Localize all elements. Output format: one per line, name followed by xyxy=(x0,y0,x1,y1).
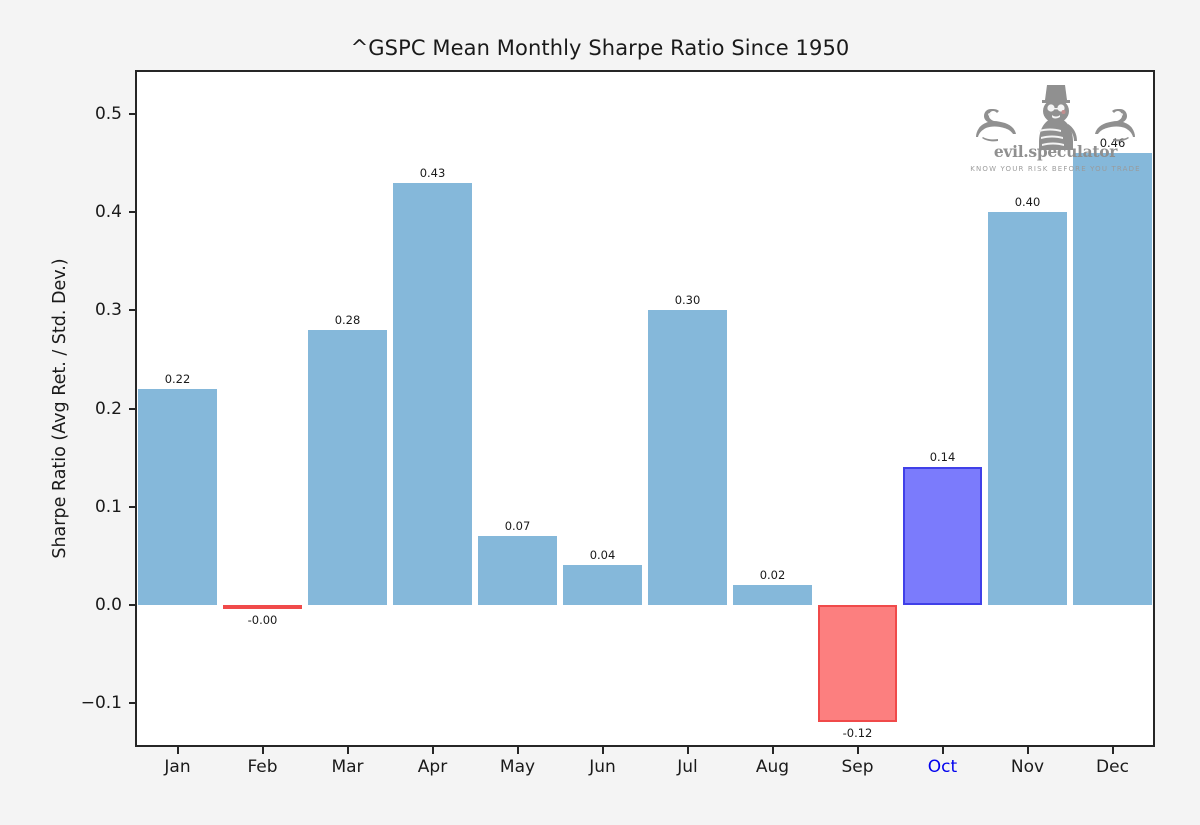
y-tick-mark xyxy=(129,604,136,606)
bar-value-label-apr: 0.43 xyxy=(373,166,493,180)
bar-value-label-aug: 0.02 xyxy=(713,568,833,582)
bar-value-label-mar: 0.28 xyxy=(288,313,408,327)
bar-value-label-jan: 0.22 xyxy=(118,372,238,386)
y-tick-label: 0.4 xyxy=(60,202,122,222)
bar-jan xyxy=(138,389,216,605)
y-tick-label: 0.1 xyxy=(60,497,122,517)
x-tick-mark xyxy=(772,747,774,754)
y-tick-label: 0.3 xyxy=(60,300,122,320)
bar-value-label-dec: 0.46 xyxy=(1053,136,1173,150)
y-tick-mark xyxy=(129,408,136,410)
x-tick-mark xyxy=(602,747,604,754)
y-tick-label: −0.1 xyxy=(60,693,122,713)
bar-nov xyxy=(988,212,1066,604)
bar-may xyxy=(478,536,556,605)
bar-sep xyxy=(818,605,896,723)
x-tick-mark xyxy=(942,747,944,754)
x-tick-mark xyxy=(517,747,519,754)
bar-feb xyxy=(223,605,301,609)
bar-dec xyxy=(1073,153,1151,604)
x-tick-mark xyxy=(432,747,434,754)
y-tick-mark xyxy=(129,211,136,213)
x-tick-mark xyxy=(262,747,264,754)
y-tick-mark xyxy=(129,113,136,115)
bar-jul xyxy=(648,310,726,604)
x-tick-label-dec: Dec xyxy=(1053,757,1173,777)
y-tick-mark xyxy=(129,506,136,508)
bar-value-label-jul: 0.30 xyxy=(628,293,748,307)
bar-aug xyxy=(733,585,811,605)
x-tick-mark xyxy=(1027,747,1029,754)
x-tick-mark xyxy=(347,747,349,754)
bar-value-label-sep: -0.12 xyxy=(798,726,918,740)
y-tick-label: 0.0 xyxy=(60,595,122,615)
x-tick-mark xyxy=(857,747,859,754)
bar-value-label-jun: 0.04 xyxy=(543,548,663,562)
page-title: ^GSPC Mean Monthly Sharpe Ratio Since 19… xyxy=(0,36,1200,60)
y-tick-label: 0.5 xyxy=(60,104,122,124)
x-tick-mark xyxy=(1112,747,1114,754)
bar-value-label-oct: 0.14 xyxy=(883,450,1003,464)
x-tick-mark xyxy=(177,747,179,754)
bar-apr xyxy=(393,183,471,605)
bar-oct xyxy=(903,467,981,604)
y-tick-mark xyxy=(129,309,136,311)
y-tick-mark xyxy=(129,702,136,704)
bar-mar xyxy=(308,330,386,605)
bar-jun xyxy=(563,565,641,604)
x-tick-mark xyxy=(687,747,689,754)
bar-value-label-may: 0.07 xyxy=(458,519,578,533)
bar-value-label-nov: 0.40 xyxy=(968,195,1088,209)
chart-figure: ^GSPC Mean Monthly Sharpe Ratio Since 19… xyxy=(0,0,1200,825)
y-tick-label: 0.2 xyxy=(60,399,122,419)
bar-value-label-feb: -0.00 xyxy=(203,613,323,627)
